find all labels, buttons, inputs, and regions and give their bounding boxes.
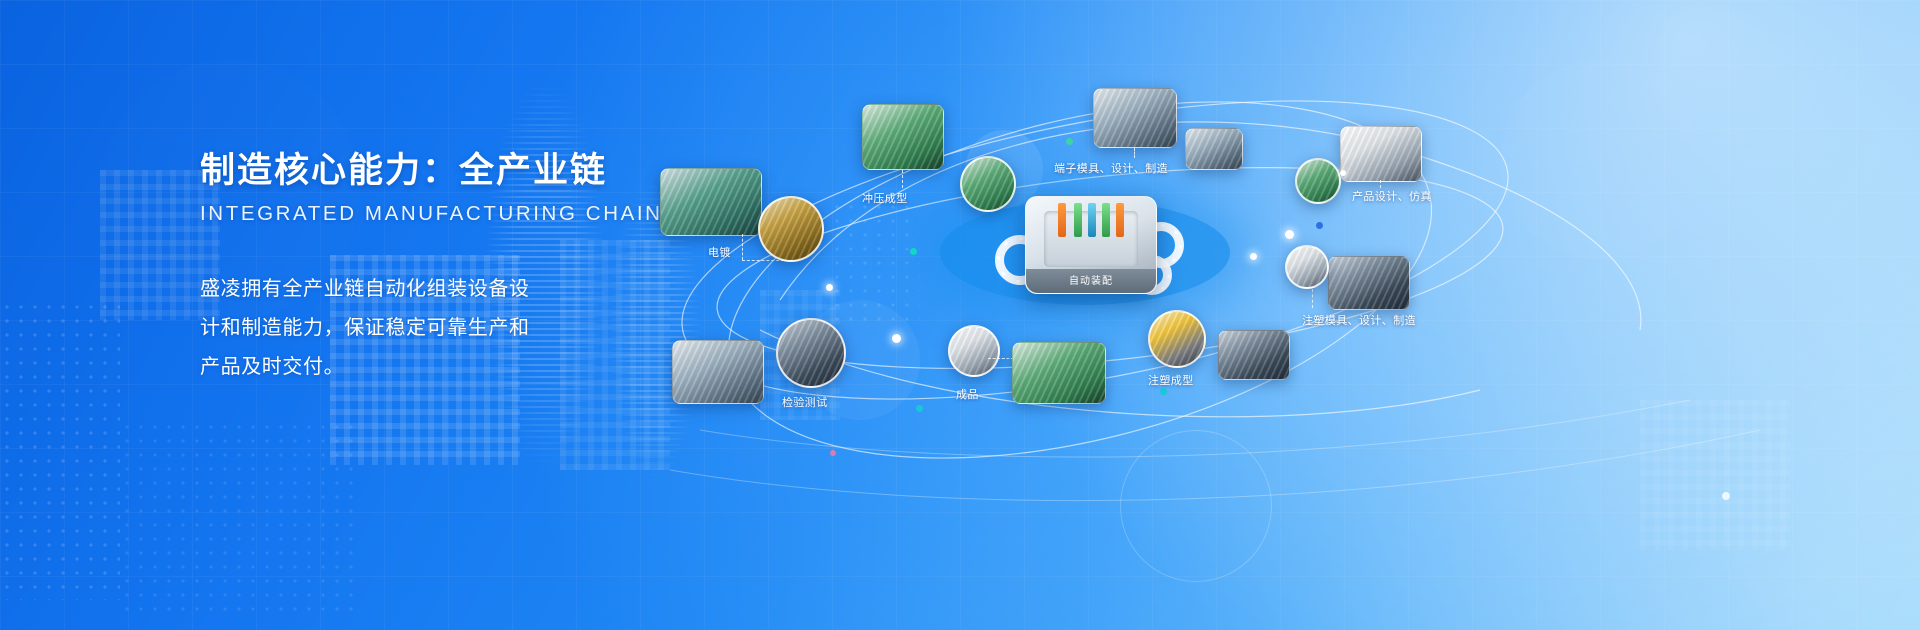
photo-texture	[1341, 127, 1421, 181]
accent-spark	[1722, 492, 1730, 500]
banner-stage: 制造核心能力：全产业链 INTEGRATED MANUFACTURING CHA…	[0, 0, 1920, 630]
photo-texture	[1186, 129, 1242, 169]
description-line-1: 盛凌拥有全产业链自动化组装设备设	[200, 270, 560, 309]
banner-description: 盛凌拥有全产业链自动化组装设备设 计和制造能力，保证稳定可靠生产和 产品及时交付…	[200, 270, 560, 387]
mold-pin	[1102, 203, 1110, 237]
node-label-injection-mold: 注塑模具、设计、制造	[1302, 312, 1416, 328]
orbit-paths	[640, 0, 1920, 630]
connector-node-dot	[826, 284, 833, 291]
automatic-assembly-model: 自动装配	[1025, 196, 1157, 294]
node-label-finished-product: 成品	[956, 386, 979, 402]
injection-molding-photo[interactable]	[1148, 310, 1206, 368]
mold-cavity-photo[interactable]	[1285, 245, 1329, 289]
photo-texture	[863, 105, 943, 169]
node-label-product-design: 产品设计、仿真	[1352, 188, 1432, 204]
photo-texture	[1287, 247, 1327, 287]
photo-texture	[1297, 160, 1339, 202]
probe-rack-photo[interactable]	[776, 318, 846, 388]
accent-spark	[830, 450, 836, 456]
node-label-terminal-mold: 端子模具、设计、制造	[1054, 160, 1168, 176]
accent-spark	[910, 248, 917, 255]
photo-texture	[661, 169, 761, 235]
cad-model-photo[interactable]	[1295, 158, 1341, 204]
node-label-injection-molding: 注塑成型	[1148, 372, 1194, 388]
stamping-thumbnail[interactable]	[862, 104, 944, 170]
electroplating-thumbnail[interactable]	[660, 168, 762, 236]
photo-texture	[1094, 89, 1176, 147]
photo-texture	[1329, 257, 1409, 309]
photo-texture	[1219, 331, 1289, 379]
product-design-thumbnail[interactable]	[1340, 126, 1422, 182]
conveyor-photo[interactable]	[1218, 330, 1290, 380]
injection-mold-thumbnail[interactable]	[1328, 256, 1410, 310]
connector-node-dot	[892, 334, 901, 343]
description-line-3: 产品及时交付。	[200, 348, 560, 387]
node-label-inspection-testing: 检验测试	[782, 394, 828, 410]
connector-dash	[742, 260, 784, 261]
connector-dash	[988, 358, 1014, 359]
mold-pin	[1088, 203, 1096, 237]
photo-texture	[950, 327, 998, 375]
terminal-part-photo[interactable]	[758, 196, 824, 262]
mold-detail-photo[interactable]	[1185, 128, 1243, 170]
node-label-stamping: 冲压成型	[862, 190, 908, 206]
terminal-mold-thumbnail[interactable]	[1093, 88, 1177, 148]
connector-dash	[742, 234, 743, 260]
pcb-part-photo[interactable]	[960, 156, 1016, 212]
background-dotfield-bottom	[120, 420, 360, 620]
mold-pin	[1116, 203, 1124, 237]
photo-texture	[760, 198, 822, 260]
photo-texture	[778, 320, 844, 386]
assembly-line-photo[interactable]	[1012, 342, 1106, 404]
photo-texture	[1150, 312, 1204, 366]
accent-spark	[1066, 138, 1073, 145]
connector-dash	[902, 170, 903, 188]
node-label-electroplating: 电镀	[708, 244, 731, 260]
accent-spark	[916, 405, 923, 412]
photo-texture	[673, 341, 763, 403]
photo-texture	[1013, 343, 1105, 403]
finished-product-photo[interactable]	[948, 325, 1000, 377]
photo-texture	[962, 158, 1014, 210]
connector-node-dot	[1285, 230, 1294, 239]
background-dotfield-left	[0, 300, 120, 600]
accent-spark	[1160, 388, 1167, 395]
connector-dash	[1134, 148, 1135, 158]
inspection-testing-thumbnail[interactable]	[672, 340, 764, 404]
center-label: 自动装配	[1026, 272, 1156, 287]
connector-node-dot	[1250, 253, 1257, 260]
mold-pin	[1074, 203, 1082, 237]
connector-node-dot	[1340, 170, 1346, 176]
manufacturing-chain-diagram: 自动装配 电镀 冲压成型	[640, 0, 1920, 630]
accent-spark	[1316, 222, 1323, 229]
connector-dash	[1380, 180, 1381, 188]
description-line-2: 计和制造能力，保证稳定可靠生产和	[200, 309, 560, 348]
mold-pin	[1058, 203, 1066, 237]
